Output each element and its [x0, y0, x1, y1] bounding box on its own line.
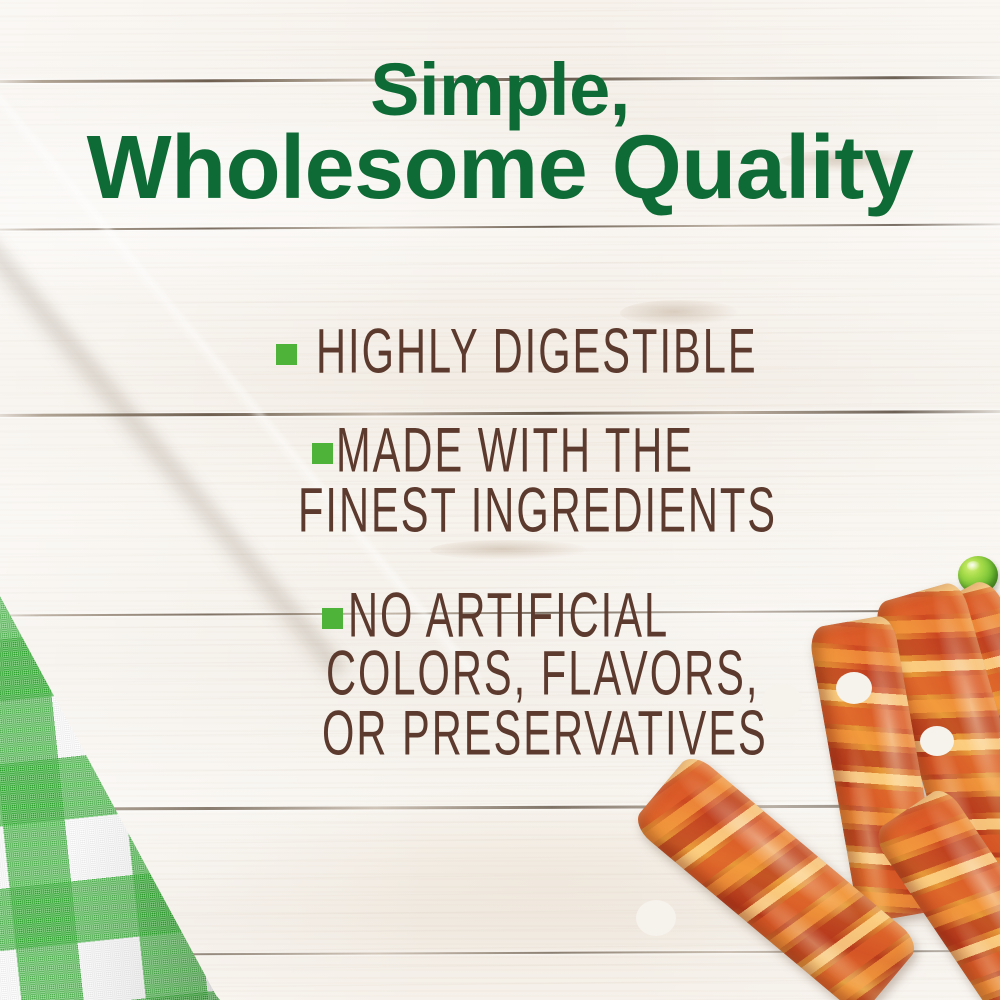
- bullet-marker-2: [312, 443, 333, 464]
- promo-image: Simple, Wholesome Quality Highly Digesti…: [0, 0, 1000, 1000]
- bullet-item-2-line-1: Made with the: [336, 419, 694, 482]
- bullet-item-3-line-3: or preservatives: [322, 702, 768, 765]
- bullet-item-3-line-2: colors, flavors,: [326, 642, 759, 705]
- headline-line-2: Wholesome Quality: [0, 125, 1000, 211]
- headline-line-1: Simple,: [0, 54, 1000, 125]
- bullet-item-3-cont-2: or preservatives: [322, 708, 879, 760]
- bullet-item-2: Made with the: [336, 425, 784, 477]
- bullet-item-2-cont: finest ingredients: [298, 485, 897, 537]
- bacon-notch: [636, 900, 676, 936]
- bullet-item-1-line-1: Highly Digestible: [316, 320, 758, 383]
- headline: Simple, Wholesome Quality: [0, 54, 1000, 211]
- bullet-item-3: No artificial: [348, 590, 749, 642]
- bacon-notch: [920, 726, 954, 756]
- bullet-marker-3: [322, 608, 343, 629]
- bullet-item-2-line-2: finest ingredients: [298, 479, 777, 542]
- bullet-item-1: Highly Digestible: [316, 326, 868, 378]
- bullet-marker-1: [276, 344, 297, 365]
- bullet-item-3-cont-1: colors, flavors,: [326, 648, 868, 700]
